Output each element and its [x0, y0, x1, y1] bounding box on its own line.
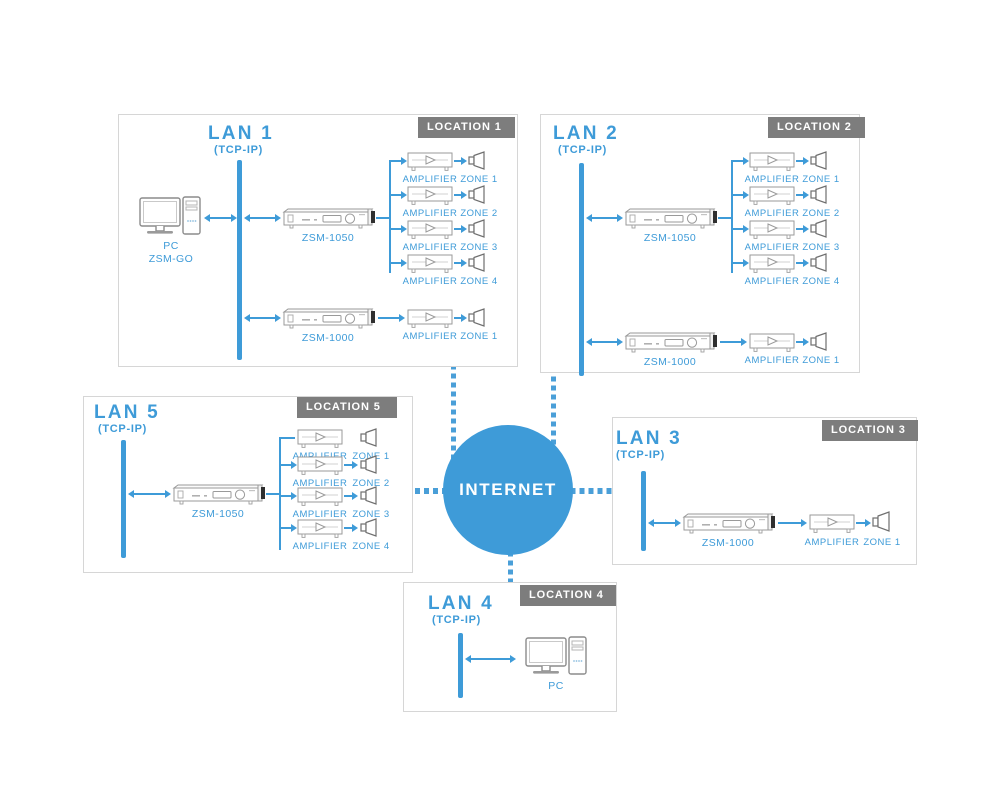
arrow-zone-2-2 — [803, 191, 809, 199]
arrow-zone-1-1 — [461, 157, 467, 165]
internet-label: INTERNET — [459, 480, 557, 500]
zone-label-4-location-1: ZONE 4 — [455, 275, 503, 288]
badge-location-4: LOCATION 4 — [520, 585, 616, 606]
arrow-zsm1000-amp-2 — [741, 338, 747, 346]
amplifier-label-5-location-1: AMPLIFIER — [400, 330, 460, 343]
internet-link-location3 — [572, 488, 614, 494]
arrow-zone-2-3 — [803, 225, 809, 233]
branch-bus-5 — [279, 437, 281, 550]
amplifier-5-location-1 — [406, 308, 454, 329]
lan-title-2: LAN 2 — [553, 124, 619, 144]
zone-label-5-location-2: ZONE 1 — [797, 354, 845, 367]
amplifier-label-4-location-2: AMPLIFIER — [742, 275, 802, 288]
trunk-zsm1050-2 — [718, 217, 732, 219]
pc-icon-location-4 — [525, 637, 587, 677]
amplifier-1-location-5 — [296, 428, 344, 449]
zone-label-5-location-1: ZONE 1 — [455, 330, 503, 343]
amplifier-4-location-1 — [406, 253, 454, 274]
badge-location-3: LOCATION 3 — [822, 420, 918, 441]
arrow-pc-left-4 — [465, 655, 471, 663]
arrow-zsm1000-amp-3 — [801, 519, 807, 527]
arrow-zsm1000-left-3 — [648, 519, 654, 527]
pc-icon-location-1 — [139, 197, 201, 237]
arrow-zone-2-1 — [803, 157, 809, 165]
trunk-zsm1050-1 — [376, 217, 390, 219]
device-label-zsm-1000-location-2: ZSM-1000 — [622, 356, 718, 369]
amplifier-5-location-2 — [748, 332, 796, 353]
speaker-zone-3-location-5 — [360, 486, 380, 505]
arrow-zsm1000-left-2 — [586, 338, 592, 346]
lan-protocol-1: (TCP-IP) — [214, 144, 263, 156]
link-bus-pc-4 — [470, 658, 514, 660]
device-label-zsm-1050-location-1: ZSM-1050 — [280, 232, 376, 245]
arrow-zsm1050-left-5 — [128, 490, 134, 498]
badge-location-1: LOCATION 1 — [418, 117, 515, 138]
amplifier-1-location-2 — [748, 151, 796, 172]
pc-label-location-1-line2: ZSM-GO — [140, 253, 202, 266]
arrow-pc-left-1 — [204, 214, 210, 222]
amplifier-2-location-2 — [748, 185, 796, 206]
pc-label-location-4: PC — [525, 680, 587, 693]
speaker-zone-2-location-5 — [360, 455, 380, 474]
lan-bus-4 — [458, 633, 463, 698]
device-zsm-1050-location-1 — [280, 207, 376, 231]
lan-title-5: LAN 5 — [94, 403, 160, 423]
arrow-zone-1-3 — [461, 225, 467, 233]
lan-title-4: LAN 4 — [428, 594, 494, 614]
speaker-zone-4-location-1 — [468, 253, 488, 272]
lan-protocol-5: (TCP-IP) — [98, 423, 147, 435]
device-zsm-1000-location-1 — [280, 307, 376, 331]
device-zsm-1000-location-3 — [680, 512, 776, 536]
speaker-zone-4-location-5 — [360, 518, 380, 537]
lan-protocol-2: (TCP-IP) — [558, 144, 607, 156]
internet-link-location1 — [451, 366, 456, 462]
speaker-zone-1-location-1 — [468, 151, 488, 170]
lan-bus-5 — [121, 440, 126, 558]
speaker-zone-5-location-2 — [810, 332, 830, 351]
device-label-zsm-1050-location-2: ZSM-1050 — [622, 232, 718, 245]
trunk-zsm1050-5 — [266, 493, 280, 495]
amplifier-2-location-5 — [296, 455, 344, 476]
badge-location-2: LOCATION 2 — [768, 117, 865, 138]
arrow-zone-5-2 — [352, 461, 358, 469]
diagram-canvas: INTERNET LOCATION 1 LAN 1 (TCP-IP) PC ZS… — [0, 0, 1000, 787]
arrow-zsm1050-left-2 — [586, 214, 592, 222]
zone-label-4-location-2: ZONE 4 — [797, 275, 845, 288]
amplifier-label-4-location-1: AMPLIFIER — [400, 275, 460, 288]
speaker-zone-3-location-1 — [468, 219, 488, 238]
speaker-zone-1-location-3 — [872, 511, 894, 532]
amplifier-2-location-1 — [406, 185, 454, 206]
amplifier-1-location-3 — [808, 513, 856, 534]
speaker-zone-1-location-5 — [360, 428, 380, 447]
amplifier-3-location-5 — [296, 486, 344, 507]
lan-bus-3 — [641, 471, 646, 551]
lan-title-3: LAN 3 — [616, 429, 682, 449]
amplifier-3-location-2 — [748, 219, 796, 240]
device-zsm-1050-location-2 — [622, 207, 718, 231]
arrow-zone-1-2 — [461, 191, 467, 199]
zone-label-1-location-3: ZONE 1 — [858, 536, 906, 549]
internet-cloud: INTERNET — [443, 425, 573, 555]
amplifier-4-location-5 — [296, 518, 344, 539]
zone-label-4-location-5: ZONE 4 — [347, 540, 395, 553]
arrow-zone-5-4 — [352, 524, 358, 532]
device-zsm-1000-location-2 — [622, 331, 718, 355]
speaker-zone-1-location-2 — [810, 151, 830, 170]
arrow-zone-1-4 — [461, 259, 467, 267]
branch-5-1 — [279, 437, 295, 439]
lan-title-1: LAN 1 — [208, 124, 274, 144]
device-label-zsm-1000-location-3: ZSM-1000 — [680, 537, 776, 550]
arrow-zsm1050-left-1 — [244, 214, 250, 222]
lan-protocol-4: (TCP-IP) — [432, 614, 481, 626]
badge-location-5: LOCATION 5 — [297, 397, 397, 418]
amplifier-label-1-location-3: AMPLIFIER — [802, 536, 862, 549]
lan-bus-1 — [237, 160, 242, 360]
amplifier-3-location-1 — [406, 219, 454, 240]
pc-label-location-1-line1: PC — [140, 240, 202, 253]
arrow-pc-right-4 — [510, 655, 516, 663]
arrow-zsm1000-amp-1 — [399, 314, 405, 322]
speaker-zone-2-location-2 — [810, 185, 830, 204]
device-label-zsm-1050-location-5: ZSM-1050 — [170, 508, 266, 521]
branch-bus-1 — [389, 160, 391, 273]
arrow-zone-5-3 — [352, 492, 358, 500]
device-zsm-1050-location-5 — [170, 483, 266, 507]
arrow-pc-right-1 — [231, 214, 237, 222]
arrow-zsm1000-left-1 — [244, 314, 250, 322]
amplifier-1-location-1 — [406, 151, 454, 172]
link-bus-zsm1050-5 — [133, 493, 169, 495]
branch-bus-2 — [731, 160, 733, 273]
arrow-zone-1-5 — [461, 314, 467, 322]
lan-protocol-3: (TCP-IP) — [616, 449, 665, 461]
amplifier-label-5-location-2: AMPLIFIER — [742, 354, 802, 367]
arrow-zone-3-1 — [865, 519, 871, 527]
amplifier-label-4-location-5: AMPLIFIER — [290, 540, 350, 553]
speaker-zone-3-location-2 — [810, 219, 830, 238]
speaker-zone-2-location-1 — [468, 185, 488, 204]
speaker-zone-4-location-2 — [810, 253, 830, 272]
arrow-zone-2-5 — [803, 338, 809, 346]
amplifier-4-location-2 — [748, 253, 796, 274]
lan-bus-2 — [579, 163, 584, 376]
speaker-zone-5-location-1 — [468, 308, 488, 327]
arrow-zone-2-4 — [803, 259, 809, 267]
device-label-zsm-1000-location-1: ZSM-1000 — [280, 332, 376, 345]
